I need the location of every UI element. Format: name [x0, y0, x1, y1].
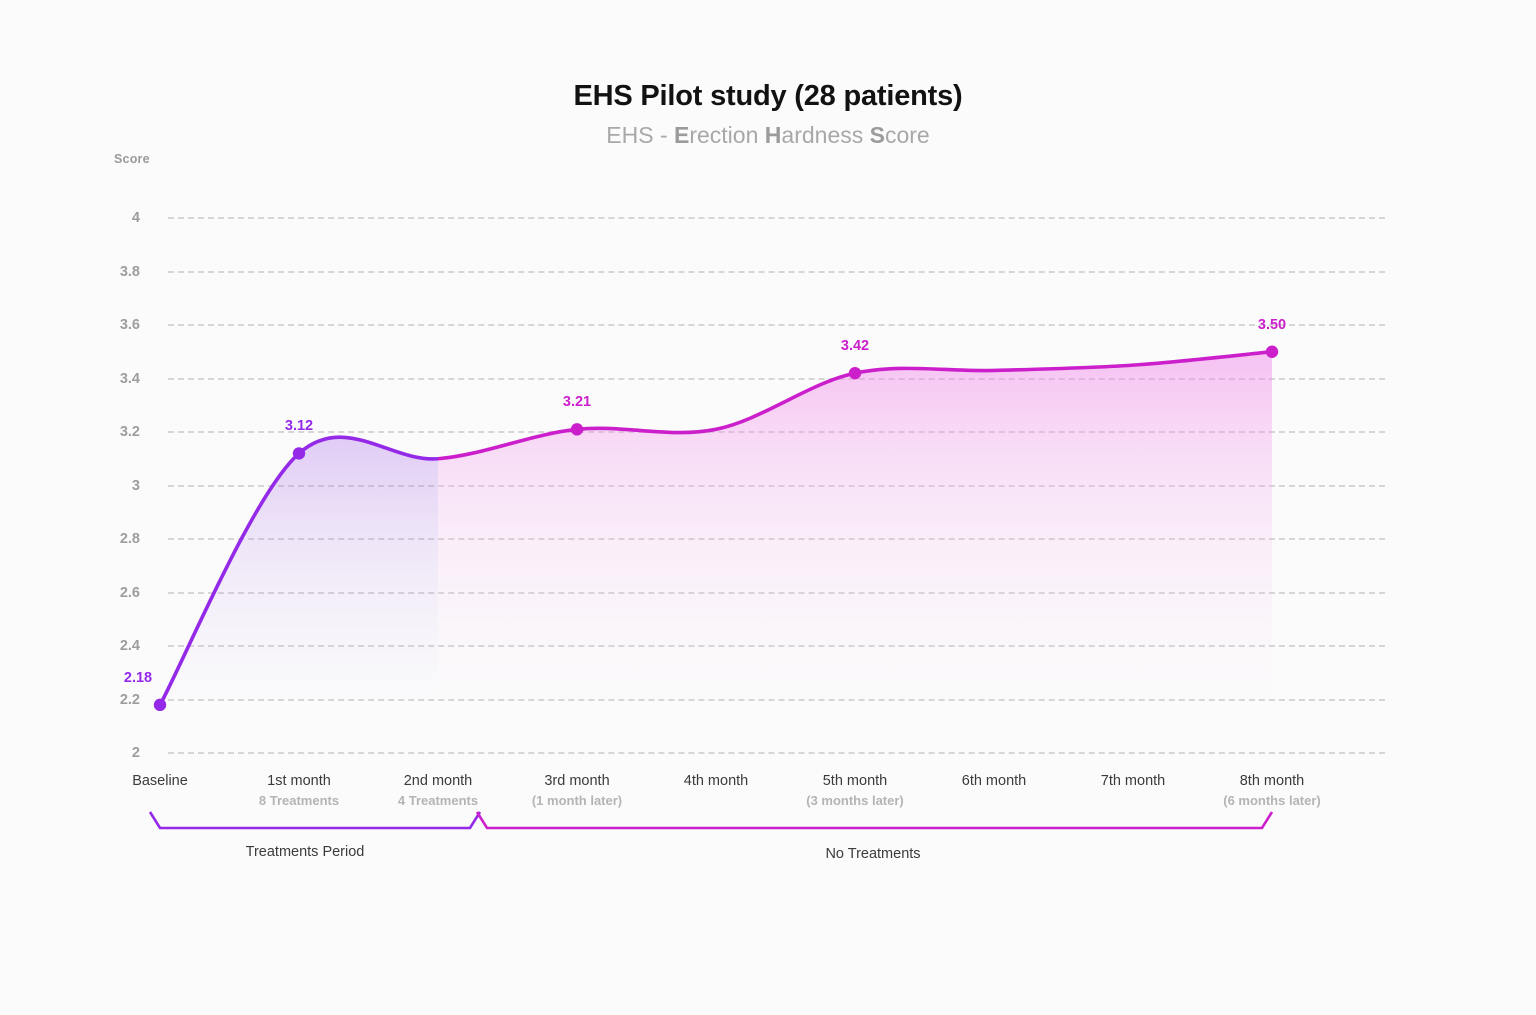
x-axis-label: 8th month(6 months later): [1223, 771, 1321, 810]
x-axis-label-main: 1st month: [259, 771, 339, 791]
y-axis-tick-label: 3.6: [84, 317, 140, 333]
y-axis-tick-label: 4: [84, 210, 140, 226]
x-axis-label-main: 6th month: [962, 771, 1027, 791]
bracket-no-treatments: [477, 812, 1272, 828]
data-point-marker: [293, 447, 305, 459]
x-axis-label: 7th month: [1101, 771, 1166, 791]
x-axis-label: 4th month: [684, 771, 749, 791]
gridline: [168, 378, 1385, 380]
x-axis-label: 5th month(3 months later): [806, 771, 904, 810]
bracket-treatments-period: [150, 812, 480, 828]
x-axis-label-sub: (3 months later): [806, 791, 904, 810]
x-axis-label: 6th month: [962, 771, 1027, 791]
data-point-marker: [571, 423, 583, 435]
y-axis-title: Score: [114, 152, 150, 166]
no-treatments-label: No Treatments: [825, 846, 920, 862]
y-axis-tick-label: 3: [84, 478, 140, 494]
gridline: [168, 485, 1385, 487]
area-fill-no-treatments: [160, 352, 1272, 705]
x-axis-label-main: 7th month: [1101, 771, 1166, 791]
data-point-marker: [154, 699, 166, 711]
gridline: [168, 271, 1385, 273]
x-axis-label-main: 5th month: [806, 771, 904, 791]
data-point-value-label: 2.18: [124, 670, 152, 686]
subtitle-prefix: EHS -: [606, 122, 674, 148]
subtitle-bold-h: H: [765, 122, 782, 148]
data-point-value-label: 3.21: [563, 394, 591, 410]
page-subtitle: EHS - Erection Hardness Score: [0, 122, 1536, 149]
series-line-no-treatments: [160, 352, 1272, 705]
gridline: [168, 592, 1385, 594]
x-axis-label-sub: (6 months later): [1223, 791, 1321, 810]
x-axis-label: Baseline: [132, 771, 188, 791]
subtitle-bold-s: S: [870, 122, 885, 148]
x-axis-label-sub: 8 Treatments: [259, 791, 339, 810]
gridline: [168, 324, 1385, 326]
x-axis-label-main: Baseline: [132, 771, 188, 791]
line-chart-plot: [0, 0, 1536, 1015]
x-axis-label: 2nd month4 Treatments: [398, 771, 478, 810]
y-axis-tick-label: 2.6: [84, 585, 140, 601]
subtitle-text-erection: rection: [689, 122, 764, 148]
y-axis-tick-label: 3.2: [84, 424, 140, 440]
period-brackets: [0, 0, 1536, 1015]
series-line-treatments: [160, 352, 1272, 705]
y-axis-tick-label: 3.4: [84, 371, 140, 387]
gridline: [168, 217, 1385, 219]
x-axis-label-main: 3rd month: [532, 771, 622, 791]
gridline: [168, 752, 1385, 754]
data-point-value-label: 3.42: [841, 338, 869, 354]
gridline: [168, 699, 1385, 701]
y-axis-tick-label: 2: [84, 745, 140, 761]
y-axis-tick-label: 3.8: [84, 264, 140, 280]
data-point-value-label: 3.50: [1258, 317, 1286, 333]
subtitle-bold-e: E: [674, 122, 689, 148]
treatments-period-label: Treatments Period: [246, 844, 365, 860]
x-axis-label-sub: (1 month later): [532, 791, 622, 810]
gridline: [168, 431, 1385, 433]
x-axis-label: 1st month8 Treatments: [259, 771, 339, 810]
x-axis-label-sub: 4 Treatments: [398, 791, 478, 810]
area-fill-treatments: [160, 352, 1272, 705]
gridline: [168, 538, 1385, 540]
y-axis-tick-label: 2.4: [84, 638, 140, 654]
y-axis-tick-label: 2.8: [84, 531, 140, 547]
x-axis-label-main: 8th month: [1223, 771, 1321, 791]
page-title: EHS Pilot study (28 patients): [0, 80, 1536, 113]
data-point-value-label: 3.12: [285, 418, 313, 434]
subtitle-text-score: core: [885, 122, 930, 148]
x-axis-label-main: 4th month: [684, 771, 749, 791]
y-axis-tick-label: 2.2: [84, 692, 140, 708]
data-point-marker: [1266, 346, 1278, 358]
gridline: [168, 645, 1385, 647]
x-axis-label-main: 2nd month: [398, 771, 478, 791]
subtitle-text-hardness: ardness: [781, 122, 869, 148]
x-axis-label: 3rd month(1 month later): [532, 771, 622, 810]
